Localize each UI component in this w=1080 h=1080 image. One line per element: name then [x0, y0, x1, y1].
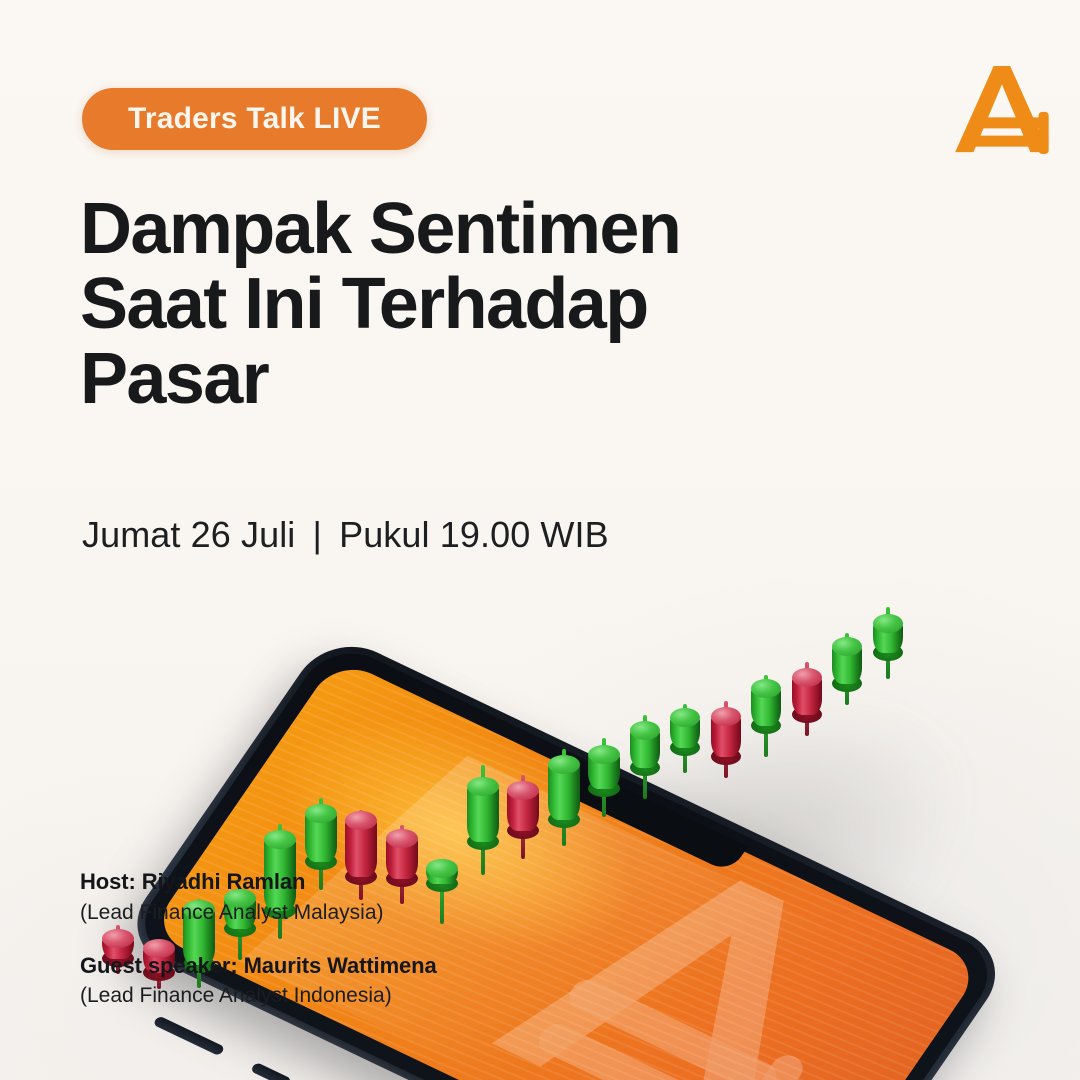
credit-guest-role: (Lead Finance Analyst Indonesia)	[80, 982, 550, 1009]
event-date: Jumat 26 Juli	[82, 514, 295, 555]
live-badge-label: Traders Talk LIVE	[128, 102, 381, 136]
speaker-credits: Host: Riyadhi Ramlan (Lead Finance Analy…	[80, 868, 550, 1010]
page-title: Dampak Sentimen Saat Ini Terhadap Pasar	[80, 192, 800, 417]
event-datetime: Jumat 26 Juli | Pukul 19.00 WIB	[82, 514, 609, 556]
phone-side-button-2	[250, 1062, 292, 1080]
poster-canvas: Traders Talk LIVE Dampak Sentimen Saat I…	[0, 0, 1080, 1080]
credit-host-name: Host: Riyadhi Ramlan	[80, 868, 550, 896]
event-time: Pukul 19.00 WIB	[339, 514, 609, 555]
datetime-separator: |	[306, 514, 329, 556]
credit-host-role: (Lead Finance Analyst Malaysia)	[80, 899, 550, 926]
credit-host: Host: Riyadhi Ramlan (Lead Finance Analy…	[80, 868, 550, 926]
brand-a-logo-icon	[946, 54, 1056, 166]
live-badge[interactable]: Traders Talk LIVE	[82, 88, 427, 150]
headline-line-2: Saat Ini Terhadap	[80, 267, 800, 342]
headline-line-1: Dampak Sentimen	[80, 192, 800, 267]
headline-line-3: Pasar	[80, 342, 800, 417]
credit-guest: Guest speaker: Maurits Wattimena (Lead F…	[80, 952, 550, 1010]
credit-guest-name: Guest speaker: Maurits Wattimena	[80, 952, 550, 980]
phone-side-button	[152, 1015, 225, 1056]
